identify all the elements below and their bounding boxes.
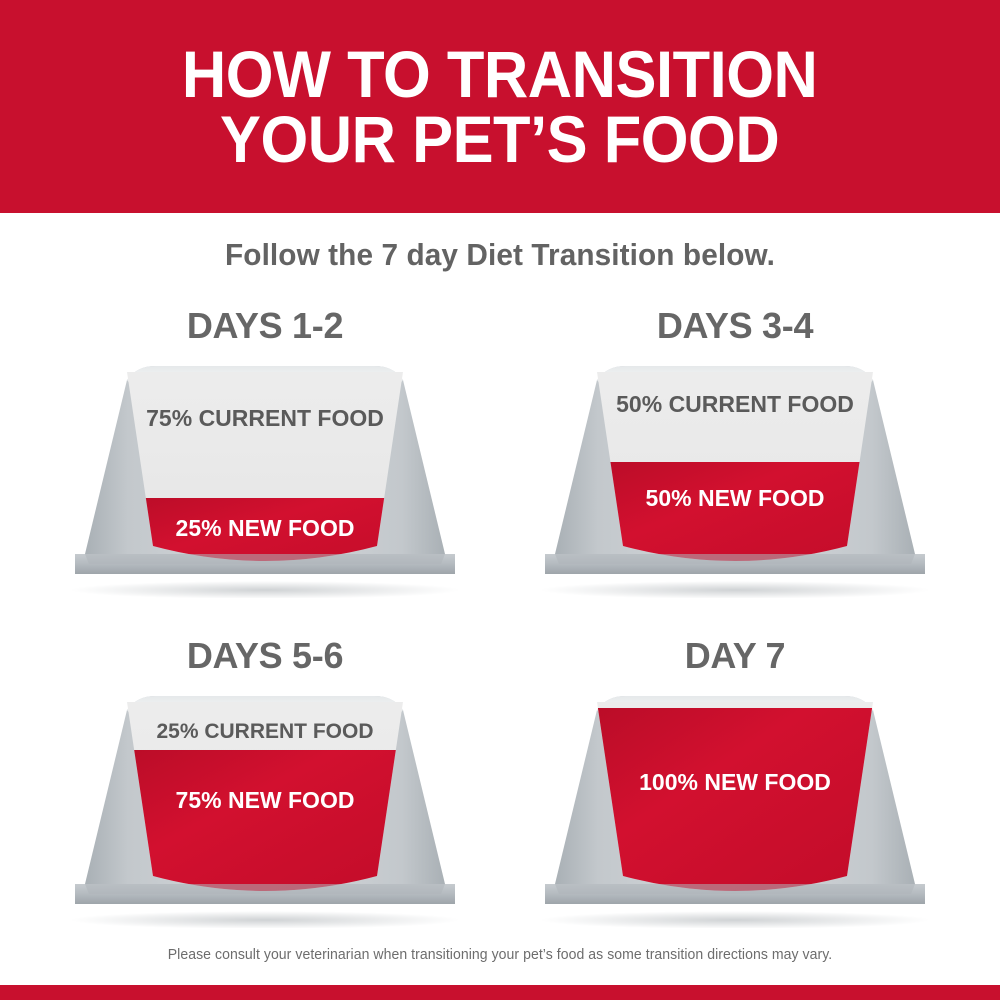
bowl-day-label: DAYS 3-4	[515, 305, 955, 347]
bowl-day-label: DAY 7	[515, 635, 955, 677]
bowl-grid: DAYS 1-2	[0, 300, 1000, 940]
bowl-day-label: DAYS 5-6	[45, 635, 485, 677]
page-title-line-2: YOUR PET’S FOOD	[220, 107, 779, 172]
bowl-graphic: 100% NEW FOOD	[515, 688, 955, 928]
bowl-graphic: 75% CURRENT FOOD 25% NEW FOOD	[45, 358, 485, 598]
bowl-card-days-5-6: DAYS 5-6	[45, 630, 485, 950]
subtitle: Follow the 7 day Diet Transition below.	[20, 237, 980, 273]
bowl-graphic: 25% CURRENT FOOD 75% NEW FOOD	[45, 688, 485, 928]
bowl-svg	[45, 358, 485, 598]
footer-banner	[0, 985, 1000, 1000]
bowl-card-days-3-4: DAYS 3-4	[515, 300, 955, 620]
bowl-card-days-1-2: DAYS 1-2	[45, 300, 485, 620]
bowl-day-label: DAYS 1-2	[45, 305, 485, 347]
page-title-line-1: HOW TO TRANSITION	[182, 42, 817, 107]
bowl-svg	[515, 358, 955, 598]
bowl-card-day-7: DAY 7	[515, 630, 955, 950]
bowl-svg	[45, 688, 485, 928]
bowl-svg	[515, 688, 955, 928]
header-banner: HOW TO TRANSITION YOUR PET’S FOOD	[0, 0, 1000, 213]
footer-disclaimer: Please consult your veterinarian when tr…	[15, 947, 985, 963]
bowl-graphic: 50% CURRENT FOOD 50% NEW FOOD	[515, 358, 955, 598]
